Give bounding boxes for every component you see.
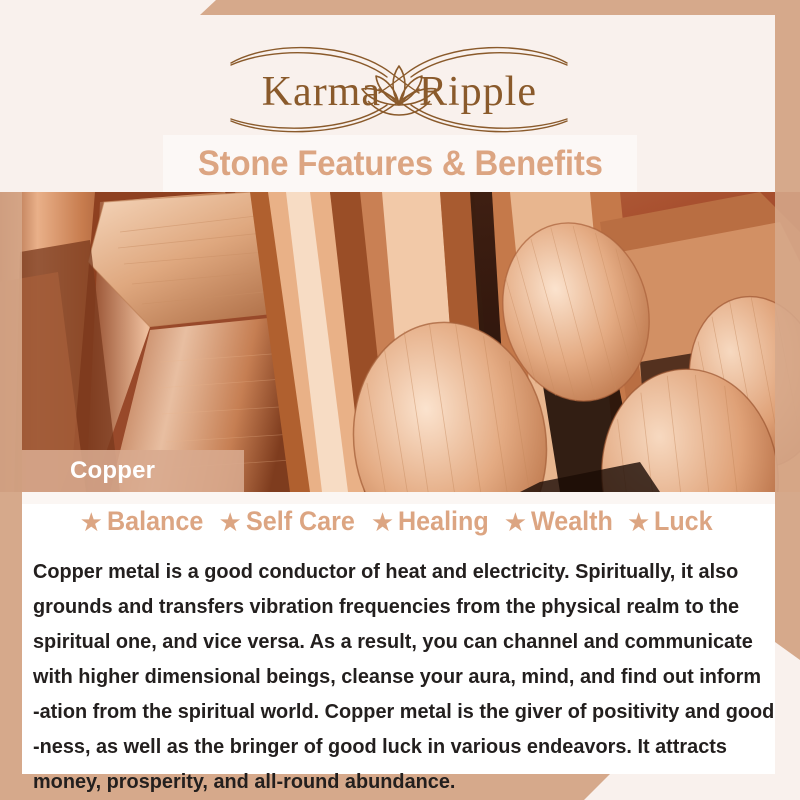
benefit-label: Balance	[107, 506, 203, 537]
star-icon: ★	[80, 509, 103, 535]
description-line: grounds and transfers vibration frequenc…	[33, 589, 747, 624]
benefit-label: Wealth	[531, 506, 613, 537]
description-line: -ation from the spiritual world. Copper …	[33, 694, 747, 729]
description-line: money, prosperity, and all-round abundan…	[33, 764, 747, 799]
star-icon: ★	[504, 509, 527, 535]
star-icon: ★	[627, 509, 650, 535]
benefits-list: ★ Balance ★ Self Care ★ Healing ★ Wealth…	[22, 506, 775, 537]
section-title-banner: Stone Features & Benefits	[163, 135, 637, 192]
list-item: ★ Self Care	[218, 506, 370, 537]
brand-logo-svg: Karma Ripple	[119, 33, 679, 143]
page-title: Stone Features & Benefits	[198, 144, 603, 184]
brand-logo: Karma Ripple	[22, 33, 775, 143]
benefit-label: Self Care	[246, 506, 355, 537]
star-icon: ★	[371, 509, 394, 535]
product-info-poster: Karma Ripple	[0, 0, 800, 800]
list-item: ★ Balance	[80, 506, 219, 537]
description-line: spiritual one, and vice versa. As a resu…	[33, 624, 747, 659]
description-line: with higher dimensional beings, cleanse …	[33, 659, 747, 694]
list-item: ★ Wealth	[504, 506, 627, 537]
stone-name-label: Copper	[70, 457, 155, 485]
brand-name-left: Karma	[261, 69, 380, 115]
content-panel: ★ Balance ★ Self Care ★ Healing ★ Wealth…	[22, 492, 775, 774]
stone-name-band: Copper	[22, 450, 244, 492]
decorative-top-bar	[200, 0, 800, 15]
description-line: Copper metal is a good conductor of heat…	[33, 554, 747, 589]
photo-left-tint	[0, 192, 22, 492]
star-icon: ★	[218, 509, 241, 535]
list-item: ★ Luck	[627, 506, 717, 537]
content-top-strip	[22, 492, 775, 504]
photo-right-tint	[775, 192, 800, 492]
copper-photo-illustration	[0, 192, 800, 492]
description-line: -ness, as well as the bringer of good lu…	[33, 729, 747, 764]
brand-name-right: Ripple	[419, 69, 537, 115]
description-text: Copper metal is a good conductor of heat…	[33, 554, 747, 799]
benefit-label: Healing	[398, 506, 489, 537]
benefit-label: Luck	[654, 506, 713, 537]
list-item: ★ Healing	[371, 506, 504, 537]
copper-rods-photo	[0, 192, 800, 492]
